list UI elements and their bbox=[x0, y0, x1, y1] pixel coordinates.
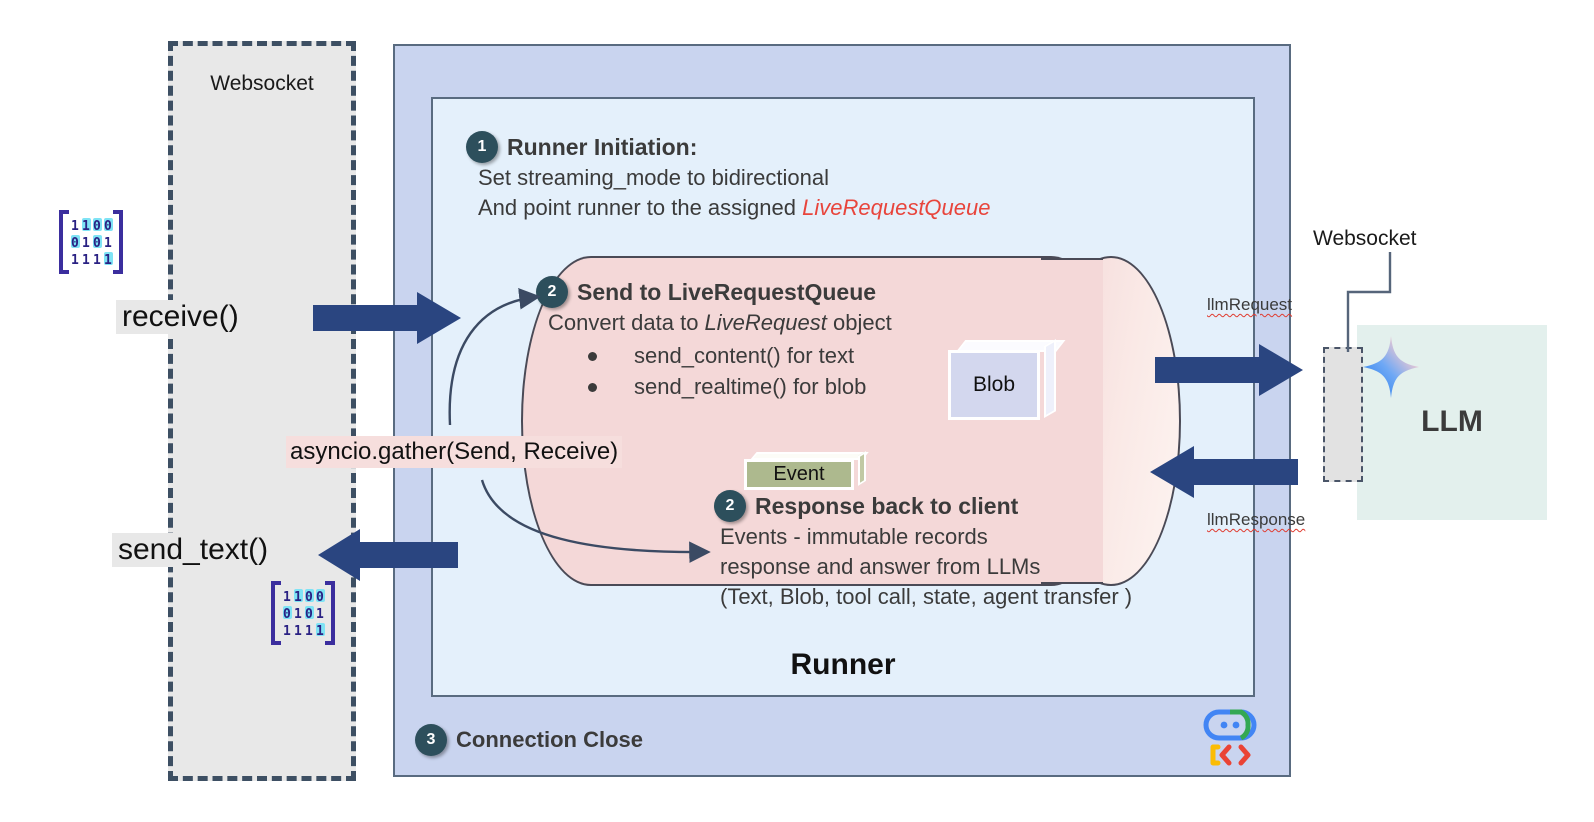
step-2b-line-2: response and answer from LLMs bbox=[720, 552, 1234, 582]
step-2a-subtitle-post: object bbox=[827, 310, 892, 335]
step-1-title: Runner Initiation: bbox=[507, 131, 697, 163]
svg-text:1: 1 bbox=[283, 590, 291, 605]
svg-text:1: 1 bbox=[294, 607, 302, 622]
svg-text:1: 1 bbox=[316, 624, 324, 639]
step-2b-line-3: (Text, Blob, tool call, state, agent tra… bbox=[720, 582, 1234, 612]
svg-text:0: 0 bbox=[71, 236, 79, 251]
step-1-line-1: Set streaming_mode to bidirectional bbox=[478, 163, 1166, 193]
step-1-line-2: And point runner to the assigned LiveReq… bbox=[478, 193, 1166, 223]
llm-response-label: llmResponse bbox=[1207, 510, 1305, 530]
diagram-canvas: Websocket 1 1 0 0 0 1 0 1 1 1 1 1 1 1 0 … bbox=[0, 0, 1594, 822]
blob-box-label: Blob bbox=[948, 350, 1040, 420]
svg-text:1: 1 bbox=[305, 624, 313, 639]
arrow-runner-to-send-text bbox=[318, 529, 458, 581]
svg-text:0: 0 bbox=[305, 607, 313, 622]
step-1-badge: 1 bbox=[466, 131, 498, 163]
svg-text:0: 0 bbox=[316, 590, 324, 605]
step-2-response-back-to-client: 2 Response back to client Events - immut… bbox=[714, 490, 1234, 612]
binary-data-icon: 1 1 0 0 0 1 0 1 1 1 1 1 bbox=[56, 209, 126, 275]
runner-title: Runner bbox=[431, 648, 1255, 682]
svg-text:1: 1 bbox=[294, 590, 302, 605]
curved-arrow-to-send bbox=[450, 297, 536, 425]
svg-text:1: 1 bbox=[82, 219, 90, 234]
svg-text:1: 1 bbox=[104, 236, 112, 251]
curved-arrows-group bbox=[440, 265, 770, 565]
llm-request-label: llmRequest bbox=[1207, 295, 1292, 315]
svg-text:0: 0 bbox=[104, 219, 112, 234]
send-text-call-label: send_text() bbox=[112, 533, 274, 567]
asyncio-gather-label: asyncio.gather(Send, Receive) bbox=[286, 436, 622, 468]
svg-text:0: 0 bbox=[283, 607, 291, 622]
svg-text:0: 0 bbox=[93, 236, 101, 251]
svg-text:1: 1 bbox=[294, 624, 302, 639]
step-2b-line-1: Events - immutable records bbox=[720, 522, 1234, 552]
svg-text:1: 1 bbox=[283, 624, 291, 639]
step-3-badge: 3 bbox=[415, 724, 447, 756]
llm-websocket-port bbox=[1323, 347, 1363, 482]
arrow-runner-to-llm bbox=[1155, 344, 1303, 396]
curved-arrow-to-response bbox=[482, 480, 706, 552]
adk-logo-icon bbox=[1199, 705, 1261, 767]
blob-box-side-face bbox=[1044, 339, 1056, 418]
blob-object-box: Blob bbox=[948, 340, 1056, 424]
step-1-line-2-text: And point runner to the assigned bbox=[478, 195, 802, 220]
arrow-llm-to-runner bbox=[1150, 446, 1298, 498]
live-request-queue-highlight: LiveRequestQueue bbox=[802, 195, 990, 220]
svg-text:0: 0 bbox=[93, 219, 101, 234]
svg-text:1: 1 bbox=[104, 253, 112, 268]
websocket-client-label: Websocket bbox=[168, 72, 356, 96]
websocket-client-panel bbox=[168, 41, 356, 781]
receive-call-label: receive() bbox=[116, 300, 245, 334]
svg-text:0: 0 bbox=[305, 590, 313, 605]
step-2b-title: Response back to client bbox=[755, 490, 1018, 522]
svg-text:1: 1 bbox=[82, 236, 90, 251]
step-3-title: Connection Close bbox=[456, 724, 643, 756]
llm-websocket-label: Websocket bbox=[1313, 227, 1417, 251]
gemini-sparkle-icon bbox=[1363, 336, 1419, 398]
svg-text:1: 1 bbox=[71, 253, 79, 268]
svg-text:1: 1 bbox=[316, 607, 324, 622]
binary-data-icon: 1 1 0 0 0 1 0 1 1 1 1 1 bbox=[268, 580, 338, 646]
step-1-runner-initiation: 1 Runner Initiation: Set streaming_mode … bbox=[466, 131, 1166, 222]
event-box-side-face bbox=[858, 451, 866, 486]
svg-text:1: 1 bbox=[82, 253, 90, 268]
step-3-connection-close: 3 Connection Close bbox=[415, 724, 643, 756]
svg-text:1: 1 bbox=[93, 253, 101, 268]
svg-text:1: 1 bbox=[71, 219, 79, 234]
llm-title: LLM bbox=[1357, 405, 1547, 439]
arrow-receive-to-runner bbox=[313, 292, 461, 344]
